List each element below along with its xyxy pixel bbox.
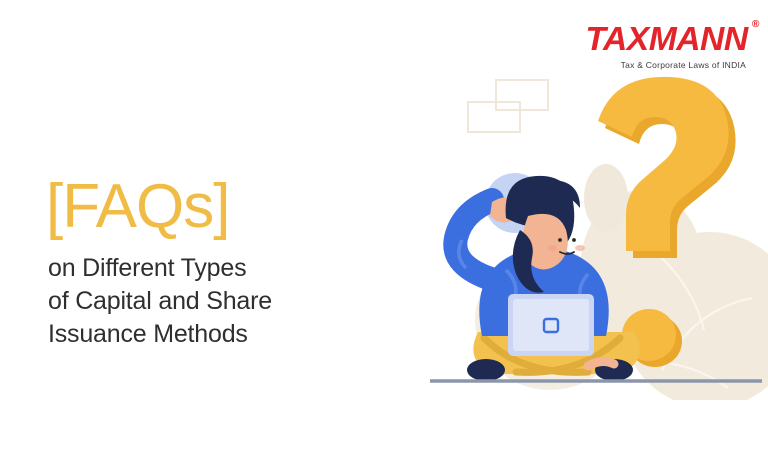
brand-name: TAXMANN [585, 20, 747, 57]
registered-trademark-icon: ® [752, 20, 759, 30]
hero-illustration [410, 70, 768, 400]
faq-banner: TAXMANN ® Tax & Corporate Laws of INDIA … [0, 0, 768, 450]
subtitle-line-3: Issuance Methods [48, 318, 272, 351]
subtitle-line-1: on Different Types [48, 252, 272, 285]
brand-tagline: Tax & Corporate Laws of INDIA [587, 61, 746, 70]
decorative-rectangles [468, 80, 548, 132]
subtitle-line-2: of Capital and Share [48, 285, 272, 318]
page-title: [FAQs] [46, 176, 272, 238]
brand-wordmark: TAXMANN ® [585, 22, 747, 55]
headline-block: [FAQs] on Different Types of Capital and… [46, 176, 272, 351]
taxmann-logo: TAXMANN ® Tax & Corporate Laws of INDIA [587, 22, 746, 70]
page-subtitle: on Different Types of Capital and Share … [48, 252, 272, 351]
